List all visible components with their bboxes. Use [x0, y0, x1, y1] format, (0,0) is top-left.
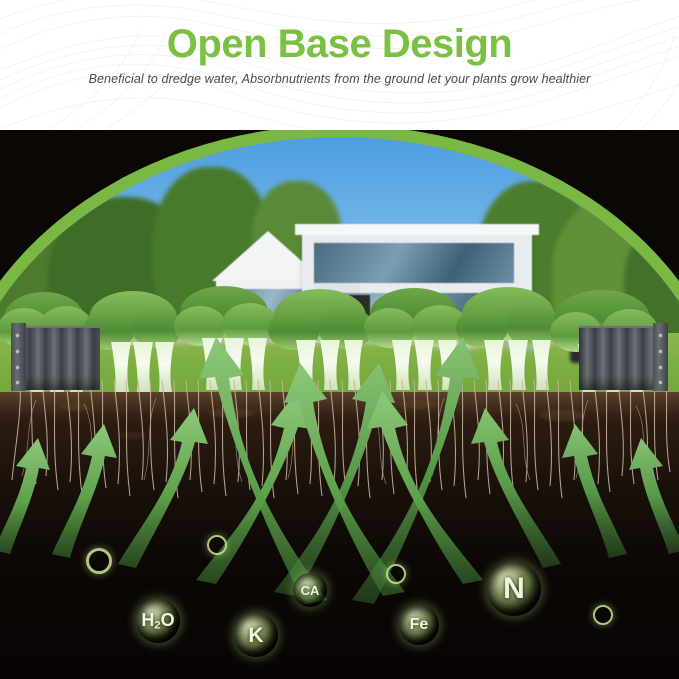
house-upper-glazing [314, 243, 514, 283]
house-flat-roof [295, 224, 539, 235]
empty-bubble-ring [207, 535, 227, 555]
right-planter-box [579, 326, 665, 388]
left-planter-box [14, 326, 100, 388]
empty-bubble-ring [86, 548, 112, 574]
empty-bubble-ring [593, 605, 613, 625]
nutrient-bubble-h2o: H2O [136, 599, 180, 643]
nutrient-bubble-k: K [234, 613, 278, 657]
nutrient-label: H2O [141, 611, 174, 632]
planter-bolt [16, 334, 19, 337]
soil-cross-section [0, 392, 679, 679]
nutrient-label: CA [301, 584, 320, 597]
planter-bolt [659, 381, 662, 384]
nutrient-label: Fe [410, 617, 429, 633]
nutrient-bubble-ca: CA [293, 573, 327, 607]
planter-bolt [659, 366, 662, 369]
infographic-root: Open Base Design Beneficial to dredge wa… [0, 0, 679, 679]
page-title: Open Base Design [0, 20, 679, 68]
nutrient-bubble-fe: Fe [399, 605, 439, 645]
nutrient-label: N [503, 574, 525, 604]
planter-corrugated-panel [14, 326, 100, 390]
planter-bolt [16, 366, 19, 369]
planter-bolt [16, 350, 19, 353]
root-system [0, 380, 679, 530]
header-banner: Open Base Design Beneficial to dredge wa… [0, 0, 679, 142]
page-subtitle: Beneficial to dredge water, Absorbnutrie… [0, 72, 679, 86]
empty-bubble-ring [386, 564, 406, 584]
planter-bolt [659, 350, 662, 353]
planter-bolt [16, 381, 19, 384]
planter-bolt [659, 334, 662, 337]
nutrient-bubble-n: N [487, 562, 541, 616]
illustration-scene [0, 130, 679, 679]
nutrient-label: K [248, 625, 263, 646]
